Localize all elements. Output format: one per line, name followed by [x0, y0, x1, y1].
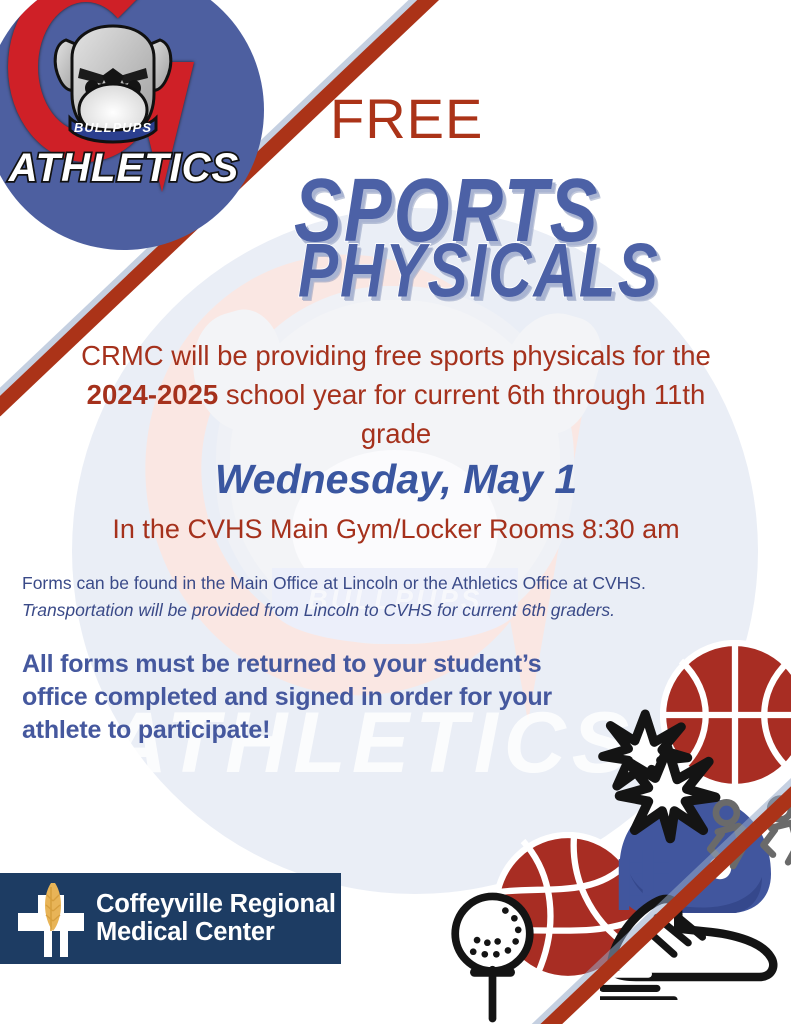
intro-text-part1: CRMC will be providing free sports physi… [81, 340, 711, 371]
crmc-wheat-cross-icon [14, 879, 92, 959]
crmc-name: Coffeyville Regional Medical Center [96, 891, 336, 945]
headline-line-physicals: PHYSICALS [298, 228, 660, 315]
headline-eyebrow: FREE [330, 91, 483, 147]
cv-athletics-logo: BULLPUPS ATHLETICS [0, 0, 264, 250]
school-year-highlight: 2024-2025 [87, 379, 219, 410]
crmc-sponsor-logo: Coffeyville Regional Medical Center [0, 873, 341, 964]
forms-requirement-callout: All forms must be returned to your stude… [22, 648, 582, 747]
crmc-name-line-2: Medical Center [96, 919, 336, 946]
event-date: Wednesday, May 1 [50, 457, 742, 502]
bulldog-mascot-icon: BULLPUPS [50, 22, 176, 158]
golf-ball-tee-icon [440, 890, 545, 1024]
logo-athletics-text: ATHLETICS [0, 148, 258, 188]
bulldog-band-text: BULLPUPS [74, 120, 152, 135]
forms-note: Forms can be found in the Main Office at… [22, 570, 722, 624]
forms-note-line-1: Forms can be found in the Main Office at… [22, 570, 722, 597]
forms-note-line-2: Transportation will be provided from Lin… [22, 597, 722, 624]
crmc-name-line-1: Coffeyville Regional [96, 891, 336, 918]
poster-canvas: BULLPUPS ATHLETICS [0, 0, 791, 1024]
event-venue-time: In the CVHS Main Gym/Locker Rooms 8:30 a… [40, 513, 752, 545]
intro-text-part2: school year for current 6th through 11th… [218, 379, 705, 449]
intro-paragraph: CRMC will be providing free sports physi… [50, 336, 742, 453]
